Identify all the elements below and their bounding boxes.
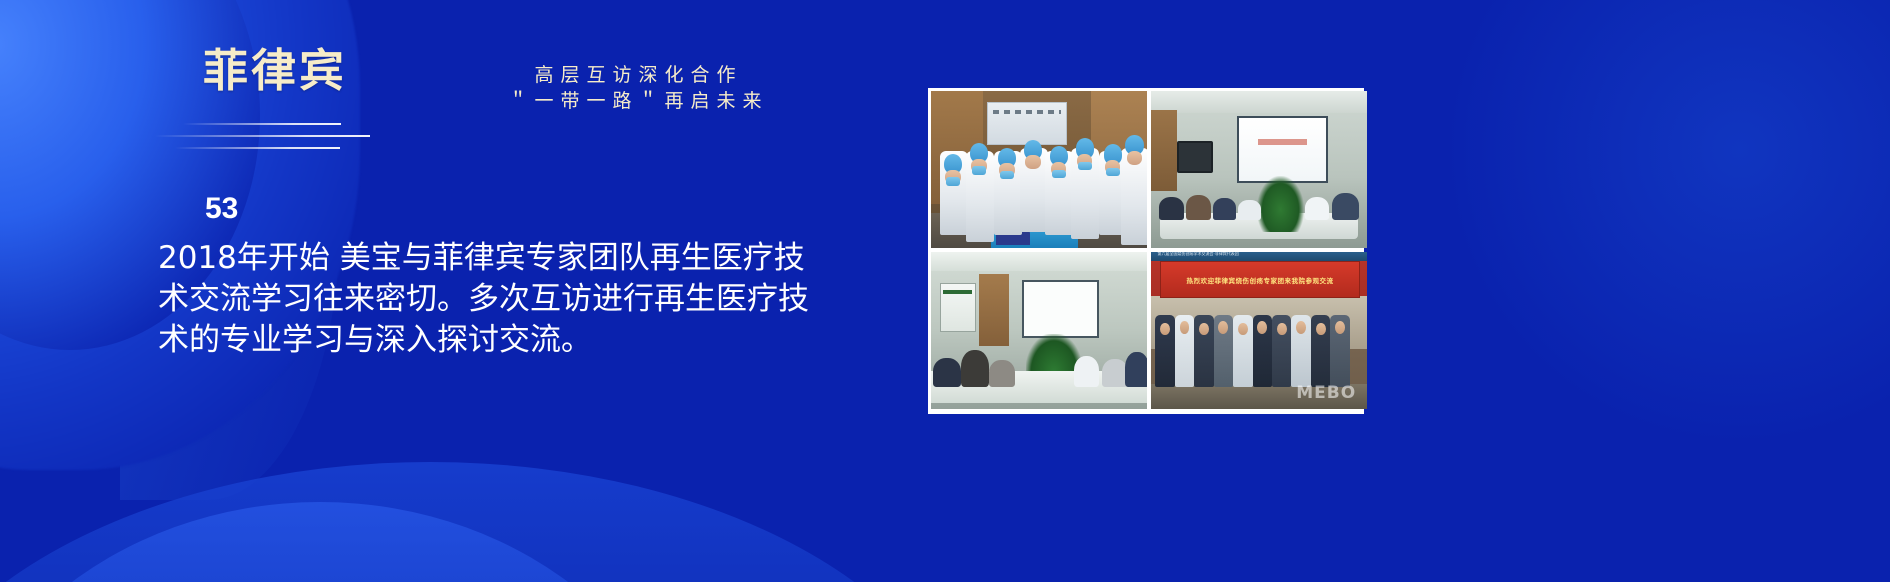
attendee xyxy=(1125,352,1147,387)
head xyxy=(1238,323,1248,336)
attendee xyxy=(1074,356,1100,387)
seated-attendees xyxy=(1155,188,1362,219)
door xyxy=(1151,110,1177,192)
subtitle-block: 高层互访深化合作 ＂一带一路＂再启未来 xyxy=(460,62,810,114)
face xyxy=(1127,151,1142,165)
decorative-line-1 xyxy=(183,123,341,125)
item-number: 53 xyxy=(205,192,238,226)
photo-meeting-room xyxy=(931,252,1147,409)
attendee xyxy=(1213,198,1236,219)
banner-text: 热烈欢迎菲律宾烧伤创疡专家团来我院参观交流 xyxy=(1186,275,1333,285)
head xyxy=(1277,323,1287,336)
wall-board xyxy=(987,102,1067,145)
surgical-mask xyxy=(1052,170,1066,178)
background-glow-right xyxy=(1440,0,1890,450)
body-text-line-1: 2018年开始 美宝与菲律宾专家团队再生医疗技 xyxy=(158,238,858,279)
mebo-watermark: MEBO xyxy=(1296,383,1356,403)
body-text-line-2: 术交流学习往来密切。多次互访进行再生医疗技 xyxy=(158,279,858,320)
attendee xyxy=(1238,200,1261,219)
surgical-mask xyxy=(1000,171,1014,179)
country-title: 菲律宾 xyxy=(203,48,347,93)
head xyxy=(1335,321,1345,334)
body-text-line-3: 术的专业学习与深入探讨交流。 xyxy=(158,320,858,361)
decorative-line-3 xyxy=(175,147,340,149)
attendee xyxy=(1159,197,1184,220)
head xyxy=(1199,323,1209,336)
ceiling xyxy=(1151,91,1367,113)
photo-conference-screen xyxy=(1151,91,1367,248)
whiteboard xyxy=(1022,280,1099,337)
surgical-mask xyxy=(1106,168,1120,176)
door xyxy=(979,274,1009,346)
attendee xyxy=(1186,195,1211,220)
photo-group-banner: 第六届全国烧伤创疡学术交流会·菲律宾代表团 热烈欢迎菲律宾烧伤创疡专家团来我院参… xyxy=(1151,252,1367,409)
attendee xyxy=(1332,193,1359,220)
attendee xyxy=(1305,197,1330,220)
decorative-line-2 xyxy=(155,135,370,137)
surgical-mask xyxy=(946,177,960,185)
monitor xyxy=(1177,141,1213,173)
subtitle-line-2: ＂一带一路＂再启未来 xyxy=(460,88,810,114)
body-text-block: 2018年开始 美宝与菲律宾专家团队再生医疗技 术交流学习往来密切。多次互访进行… xyxy=(158,238,858,361)
event-header-strip: 第六届全国烧伤创疡学术交流会·菲律宾代表团 xyxy=(1151,252,1367,261)
head xyxy=(1180,321,1190,334)
attendee xyxy=(1102,359,1128,387)
red-welcome-banner: 热烈欢迎菲律宾烧伤创疡专家团来我院参观交流 xyxy=(1160,261,1361,298)
ceiling xyxy=(931,252,1147,271)
photo-doctors-ward xyxy=(931,91,1147,248)
surgical-mask xyxy=(972,166,986,174)
face xyxy=(1025,155,1040,169)
seated-attendees xyxy=(931,340,1147,387)
head xyxy=(1218,321,1228,334)
wall-poster xyxy=(940,283,977,332)
projection-screen xyxy=(1237,116,1327,183)
attendee xyxy=(933,358,961,387)
attendee xyxy=(989,360,1015,387)
event-header-text: 第六届全国烧伤创疡学术交流会·菲律宾代表团 xyxy=(1157,252,1238,257)
attendee xyxy=(961,350,989,387)
decorative-lines xyxy=(155,118,385,158)
slide-root: 菲律宾 高层互访深化合作 ＂一带一路＂再启未来 53 2018年开始 美宝与菲律… xyxy=(0,0,1890,582)
head xyxy=(1316,323,1326,336)
photo-collage: 第六届全国烧伤创疡学术交流会·菲律宾代表团 热烈欢迎菲律宾烧伤创疡专家团来我院参… xyxy=(928,88,1364,414)
head xyxy=(1160,323,1170,336)
left-content-column: 菲律宾 高层互访深化合作 ＂一带一路＂再启未来 53 2018年开始 美宝与菲律… xyxy=(0,0,900,582)
head xyxy=(1257,321,1267,334)
head xyxy=(1296,321,1306,334)
surgical-mask xyxy=(1078,162,1092,170)
subtitle-line-1: 高层互访深化合作 xyxy=(460,62,810,88)
